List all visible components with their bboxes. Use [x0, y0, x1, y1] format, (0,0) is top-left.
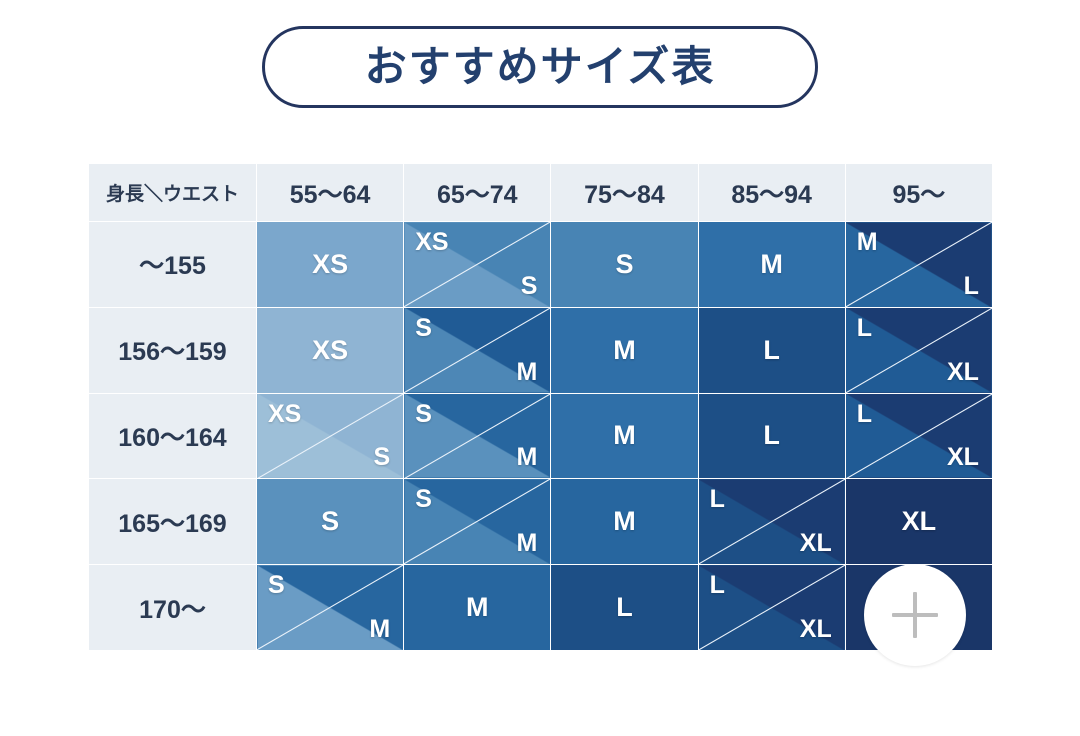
page-title: おすすめサイズ表 — [365, 46, 716, 88]
size-label-upper: L — [710, 485, 725, 514]
size-cell-r0-c1: XSS — [404, 222, 551, 308]
size-label: M — [699, 222, 845, 307]
size-cell-r1-c3: L — [698, 307, 845, 393]
size-cell-r2-c4: LXL — [845, 393, 992, 479]
column-header-0: 55〜64 — [257, 164, 404, 222]
size-label-lower: S — [374, 443, 391, 472]
size-label-upper: S — [415, 400, 432, 429]
size-cell-r2-c3: L — [698, 393, 845, 479]
add-plus-button[interactable] — [864, 564, 966, 666]
plus-icon — [892, 592, 938, 638]
corner-header: 身長＼ウエスト — [89, 164, 257, 222]
size-cell-r1-c2: M — [551, 307, 698, 393]
size-label: XS — [257, 308, 403, 393]
table-row: 156〜159XSSMMLLXL — [89, 307, 993, 393]
size-label: L — [699, 394, 845, 479]
size-label: XL — [846, 479, 992, 564]
size-label: L — [699, 308, 845, 393]
size-label-lower: L — [964, 272, 979, 301]
row-header-4: 170〜 — [89, 565, 257, 651]
size-label-lower: M — [517, 529, 538, 558]
size-cell-r4-c2: L — [551, 565, 698, 651]
size-label-lower: XL — [800, 615, 832, 644]
row-header-2: 160〜164 — [89, 393, 257, 479]
size-label-lower: S — [521, 272, 538, 301]
size-label: S — [257, 479, 403, 564]
size-cell-r1-c0: XS — [257, 307, 404, 393]
size-cell-r2-c1: SM — [404, 393, 551, 479]
size-label-upper: XS — [415, 228, 448, 257]
table-row: 170〜SMMLLXL — [89, 565, 993, 651]
row-header-0: 〜155 — [89, 222, 257, 308]
size-label-upper: S — [268, 571, 285, 600]
size-cell-r0-c4: ML — [845, 222, 992, 308]
size-label: M — [551, 479, 697, 564]
column-header-2: 75〜84 — [551, 164, 698, 222]
size-label-lower: M — [517, 443, 538, 472]
size-chart-container: 身長＼ウエスト 55〜64 65〜74 75〜84 85〜94 95〜 〜155… — [88, 163, 992, 650]
size-cell-r3-c2: M — [551, 479, 698, 565]
size-label: XS — [257, 222, 403, 307]
size-label-lower: M — [517, 358, 538, 387]
table-row: 165〜169SSMMLXLXL — [89, 479, 993, 565]
size-label: M — [551, 308, 697, 393]
size-label-upper: M — [857, 228, 878, 257]
column-header-4: 95〜 — [845, 164, 992, 222]
table-row: 160〜164XSSSMMLLXL — [89, 393, 993, 479]
size-label-upper: S — [415, 314, 432, 343]
table-body: 〜155XSXSSSMML156〜159XSSMMLLXL160〜164XSSS… — [89, 222, 993, 651]
table-row: 〜155XSXSSSMML — [89, 222, 993, 308]
column-header-1: 65〜74 — [404, 164, 551, 222]
page-title-pill: おすすめサイズ表 — [262, 26, 818, 108]
size-cell-r4-c3: LXL — [698, 565, 845, 651]
size-cell-r0-c3: M — [698, 222, 845, 308]
size-label: M — [404, 565, 550, 650]
size-cell-r3-c3: LXL — [698, 479, 845, 565]
size-cell-r3-c4: XL — [845, 479, 992, 565]
size-label-upper: L — [857, 314, 872, 343]
row-header-3: 165〜169 — [89, 479, 257, 565]
size-label: L — [551, 565, 697, 650]
size-label-lower: XL — [800, 529, 832, 558]
size-label: M — [551, 394, 697, 479]
size-label-lower: M — [369, 615, 390, 644]
size-label: S — [551, 222, 697, 307]
size-cell-r3-c0: S — [257, 479, 404, 565]
size-cell-r2-c0: XSS — [257, 393, 404, 479]
size-cell-r1-c4: LXL — [845, 307, 992, 393]
size-chart-table: 身長＼ウエスト 55〜64 65〜74 75〜84 85〜94 95〜 〜155… — [88, 163, 993, 651]
size-cell-r1-c1: SM — [404, 307, 551, 393]
size-label-lower: XL — [947, 358, 979, 387]
size-cell-r3-c1: SM — [404, 479, 551, 565]
size-label-lower: XL — [947, 443, 979, 472]
size-label-upper: L — [710, 571, 725, 600]
size-cell-r4-c0: SM — [257, 565, 404, 651]
table-header-row: 身長＼ウエスト 55〜64 65〜74 75〜84 85〜94 95〜 — [89, 164, 993, 222]
size-cell-r2-c2: M — [551, 393, 698, 479]
size-cell-r4-c1: M — [404, 565, 551, 651]
row-header-1: 156〜159 — [89, 307, 257, 393]
size-label-upper: XS — [268, 400, 301, 429]
size-label-upper: S — [415, 485, 432, 514]
size-cell-r0-c2: S — [551, 222, 698, 308]
size-label-upper: L — [857, 400, 872, 429]
column-header-3: 85〜94 — [698, 164, 845, 222]
size-cell-r0-c0: XS — [257, 222, 404, 308]
